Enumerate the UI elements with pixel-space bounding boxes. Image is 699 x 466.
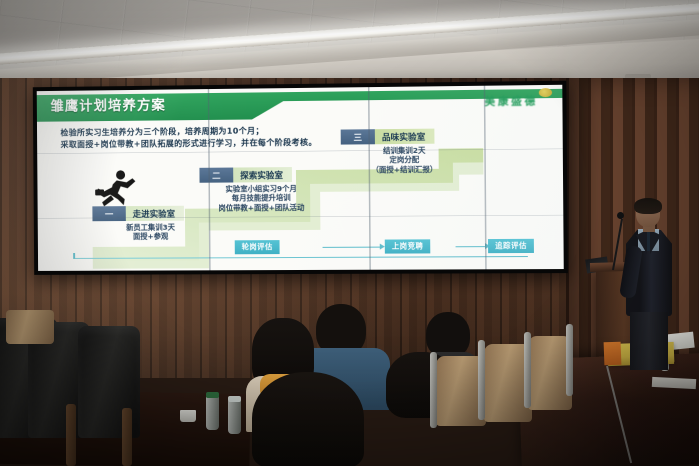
chair-leg-1 <box>66 404 76 466</box>
orange-binder <box>604 342 622 366</box>
table-bottle-1-cap <box>206 392 219 398</box>
stage-2-number: 二 <box>199 168 233 183</box>
stage-1-number: 一 <box>92 206 125 221</box>
stage-1-header: 一 走进实验室 <box>92 206 208 222</box>
stage-3-number: 三 <box>341 129 375 144</box>
running-person-icon <box>94 169 138 207</box>
table-bottle-2 <box>228 400 241 434</box>
presentation-slide: 雏鹰计划培养方案 美康盛德 检验所实习生培养分为三个阶段，培养周期为10个月； … <box>37 85 564 271</box>
stage-2: 二 探索实验室 实验室小组实习9个月 每月技能提升培训 岗位带教+面授+团队活动 <box>199 167 323 213</box>
stage-3-detail-line-3: （面授+结训汇报） <box>341 164 468 174</box>
presenter-legs <box>630 312 668 370</box>
audience-person-4 <box>252 372 370 466</box>
milestone-badge-3: 追踪评估 <box>488 239 534 253</box>
axis-tick-start <box>73 253 75 259</box>
stage-3-name: 品味实验室 <box>375 129 435 145</box>
presenter <box>622 200 676 370</box>
audience-chair-frame-4 <box>566 324 573 396</box>
chair-leg-2 <box>122 408 132 466</box>
stage-1: 一 走进实验室 新员工集训3天 面授+参观 <box>92 206 209 242</box>
table-bottle-2-cap <box>228 396 241 402</box>
audience-chair-frame-3 <box>524 332 531 408</box>
stage-1-detail-line-2: 面授+参观 <box>93 232 209 242</box>
milestone-arrow-1 <box>323 246 381 248</box>
video-wall-display[interactable]: 雏鹰计划培养方案 美康盛德 检验所实习生培养分为三个阶段，培养周期为10个月； … <box>33 81 568 275</box>
slide-intro-text: 检验所实习生培养分为三个阶段，培养周期为10个月； 采取面授+岗位带教+团队拓展… <box>60 125 316 150</box>
stage-3-detail: 结训集训2天 定岗分配 （面授+结训汇报） <box>341 145 468 174</box>
milestone-arrow-2 <box>456 246 486 248</box>
stage-1-detail: 新员工集训3天 面授+参观 <box>92 223 208 242</box>
intro-line-2: 采取面授+岗位带教+团队拓展的形式进行学习，并在每个阶段考核。 <box>61 136 317 150</box>
milestone-badge-2: 上岗竞聘 <box>385 239 431 253</box>
milestone-badge-1: 轮岗评估 <box>235 240 280 254</box>
audience-person-4-hair <box>252 372 364 466</box>
slide-title: 雏鹰计划培养方案 <box>50 95 166 118</box>
company-logo-text: 美康盛德 <box>484 93 538 109</box>
stage-1-name: 走进实验室 <box>126 206 184 221</box>
table-bottle-1 <box>206 396 219 430</box>
presenter-hair <box>634 198 662 214</box>
table-cup-1 <box>180 410 196 422</box>
stage-3: 三 品味实验室 结训集训2天 定岗分配 （面授+结训汇报） <box>341 128 469 174</box>
tan-chair-back-left <box>6 310 54 344</box>
stage-3-header: 三 品味实验室 <box>341 128 468 144</box>
stage-2-header: 二 探索实验室 <box>199 167 323 183</box>
audience-chair-frame-2 <box>478 340 485 420</box>
stage-2-detail-line-3: 岗位带教+面授+团队活动 <box>200 202 324 212</box>
stage-2-detail: 实验室小组实习9个月 每月技能提升培训 岗位带教+面授+团队活动 <box>200 184 324 213</box>
audience-chair-frame-1 <box>430 352 437 428</box>
conference-room-photo: 雏鹰计划培养方案 美康盛德 检验所实习生培养分为三个阶段，培养周期为10个月； … <box>0 0 699 466</box>
stage-2-name: 探索实验室 <box>233 167 292 182</box>
